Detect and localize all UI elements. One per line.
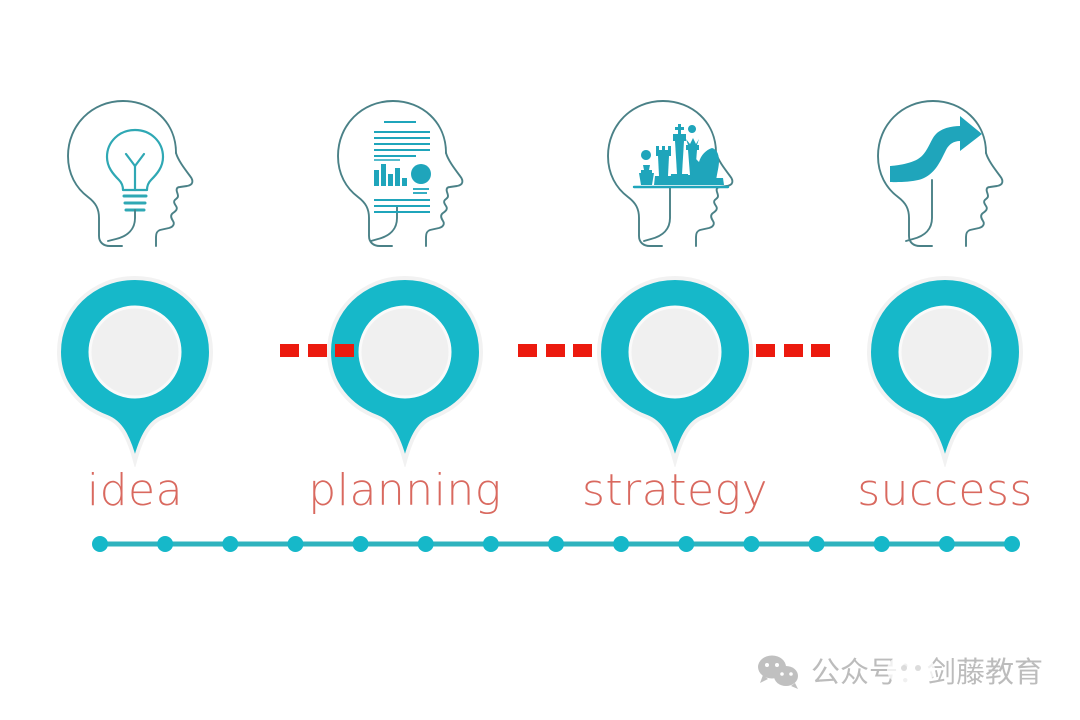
pin-cell-success <box>810 272 1080 467</box>
timeline-dot <box>743 536 759 552</box>
head-chess-icon <box>600 96 750 248</box>
map-pin-marker-idea[interactable] <box>50 272 220 467</box>
timeline-dot <box>353 536 369 552</box>
timeline-dot <box>939 536 955 552</box>
wechat-icon <box>757 654 801 690</box>
head-document-chart-icon <box>330 96 480 248</box>
label-cell-strategy: strategy <box>540 460 810 522</box>
step-label-success: success <box>857 469 1033 513</box>
watermark: 公众号：剑藤教育 <box>757 648 1043 696</box>
timeline-dot <box>92 536 108 552</box>
map-pin-marker-success[interactable] <box>860 272 1030 467</box>
map-pin-marker-planning[interactable] <box>320 272 490 467</box>
pin-cell-idea <box>0 272 270 467</box>
label-cell-success: success <box>810 460 1080 522</box>
pin-markers-row <box>0 272 1080 467</box>
timeline-dot <box>613 536 629 552</box>
rising-arrow-shape <box>890 116 982 182</box>
icon-cell-strategy <box>540 96 810 256</box>
step-label-planning: planning <box>308 469 501 513</box>
head-rising-arrow-icon <box>870 96 1020 248</box>
dotted-timeline <box>92 532 1020 556</box>
pin-cell-strategy <box>540 272 810 467</box>
watermark-text: 公众号：剑藤教育 <box>811 658 1043 687</box>
pin-cell-planning <box>270 272 540 467</box>
step-label-idea: idea <box>87 469 183 513</box>
head-icons-row <box>0 96 1080 256</box>
map-pin-marker-strategy[interactable] <box>590 272 760 467</box>
step-labels-row: idea planning strategy success <box>0 460 1080 522</box>
icon-cell-success <box>810 96 1080 256</box>
timeline-dot <box>809 536 825 552</box>
timeline-dot <box>678 536 694 552</box>
timeline-dot <box>222 536 238 552</box>
timeline-dot <box>157 536 173 552</box>
label-cell-idea: idea <box>0 460 270 522</box>
timeline-dot <box>874 536 890 552</box>
timeline-dot <box>418 536 434 552</box>
label-cell-planning: planning <box>270 460 540 522</box>
timeline-dot <box>483 536 499 552</box>
icon-cell-planning <box>270 96 540 256</box>
infographic-canvas: idea planning strategy success 公众号：剑藤教育 <box>0 0 1080 720</box>
step-label-strategy: strategy <box>582 469 768 513</box>
icon-cell-idea <box>0 96 270 256</box>
head-lightbulb-icon <box>60 96 210 248</box>
timeline-dot <box>1004 536 1020 552</box>
timeline-dot <box>548 536 564 552</box>
timeline-dot <box>287 536 303 552</box>
